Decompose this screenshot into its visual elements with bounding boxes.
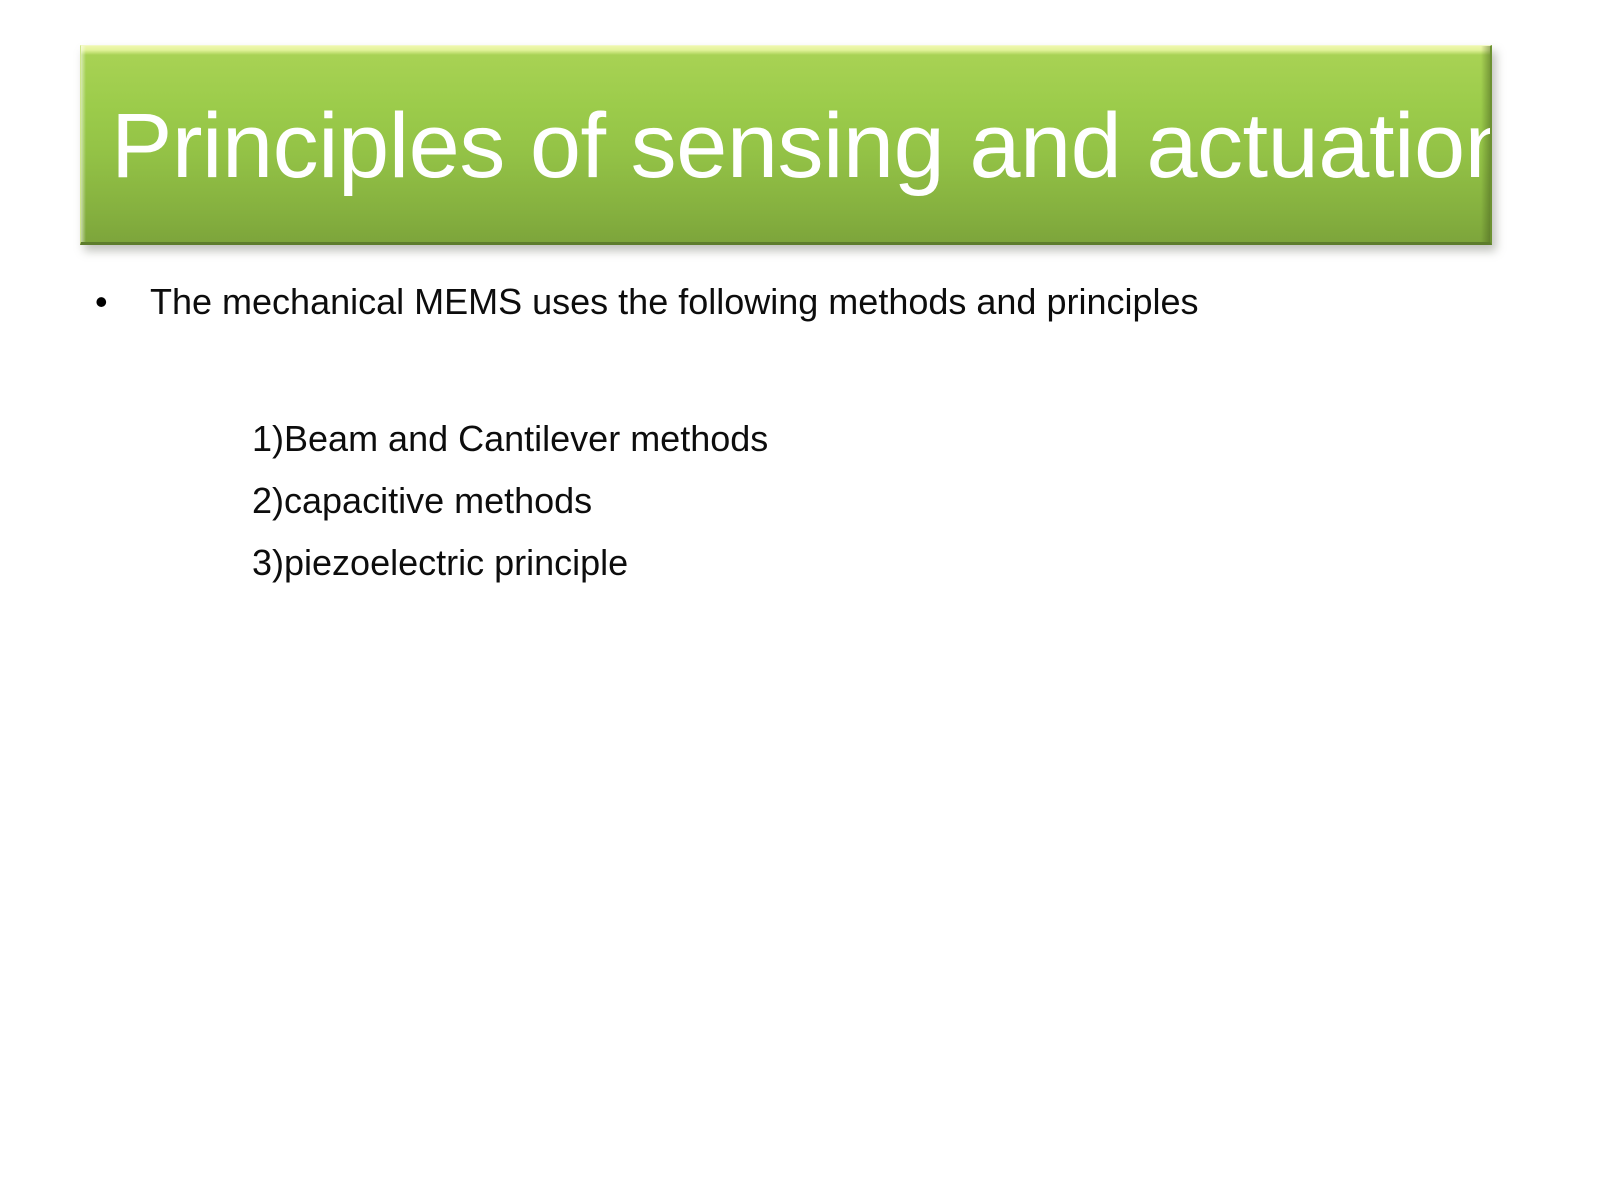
slide-body: • The mechanical MEMS uses the following… [0, 278, 1600, 334]
bullet-dot-icon: • [95, 278, 108, 326]
list-item: 2)capacitive methods [252, 470, 1452, 532]
slide-title-banner: Principles of sensing and actuation [80, 45, 1492, 245]
list-item: 1)Beam and Cantilever methods [252, 408, 1452, 470]
page-title: Principles of sensing and actuation [111, 46, 1474, 245]
list-item: 3)piezoelectric principle [252, 532, 1452, 594]
bullet-item-label: The mechanical MEMS uses the following m… [150, 278, 1199, 326]
bullet-list-item: • The mechanical MEMS uses the following… [0, 278, 1600, 334]
numbered-method-list: 1)Beam and Cantilever methods 2)capaciti… [252, 408, 1452, 594]
slide-canvas: Principles of sensing and actuation • Th… [0, 0, 1600, 1200]
